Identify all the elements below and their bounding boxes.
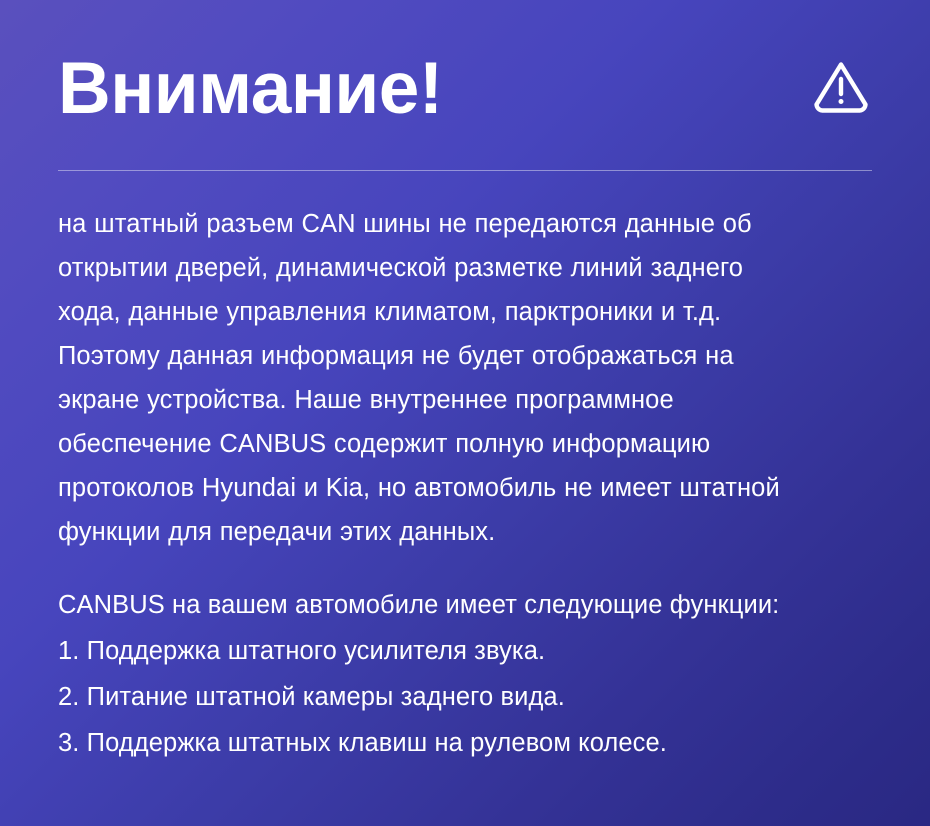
features-lead: CANBUS на вашем автомобиле имеет следующ… — [58, 582, 872, 628]
paragraph-line: Поэтому данная информация не будет отобр… — [58, 334, 872, 378]
warning-triangle-icon — [810, 56, 872, 118]
features-list: 1. Поддержка штатного усилителя звука. 2… — [58, 628, 872, 766]
paragraph-line: обеспечение CANBUS содержит полную инфор… — [58, 422, 872, 466]
list-item: 3. Поддержка штатных клавиш на рулевом к… — [58, 720, 872, 766]
paragraph-line: на штатный разъем CAN шины не передаются… — [58, 202, 872, 246]
paragraph-spacer — [58, 554, 872, 582]
paragraph-line: протоколов Hyundai и Kia, но автомобиль … — [58, 466, 872, 510]
list-item: 1. Поддержка штатного усилителя звука. — [58, 628, 872, 674]
paragraph-line: хода, данные управления климатом, парктр… — [58, 290, 872, 334]
paragraph-line: экране устройства. Наше внутреннее прогр… — [58, 378, 872, 422]
poster-content: на штатный разъем CAN шины не передаются… — [58, 170, 872, 766]
paragraph-line: открытии дверей, динамической разметке л… — [58, 246, 872, 290]
header-divider — [58, 170, 872, 171]
warning-paragraph: на штатный разъем CAN шины не передаются… — [58, 202, 872, 554]
paragraph-line: функции для передачи этих данных. — [58, 510, 872, 554]
poster-header: Внимание! — [58, 0, 872, 170]
page-title: Внимание! — [58, 52, 443, 125]
list-item: 2. Питание штатной камеры заднего вида. — [58, 674, 872, 720]
warning-poster: Внимание! на штатный разъем CAN шины не … — [0, 0, 930, 826]
